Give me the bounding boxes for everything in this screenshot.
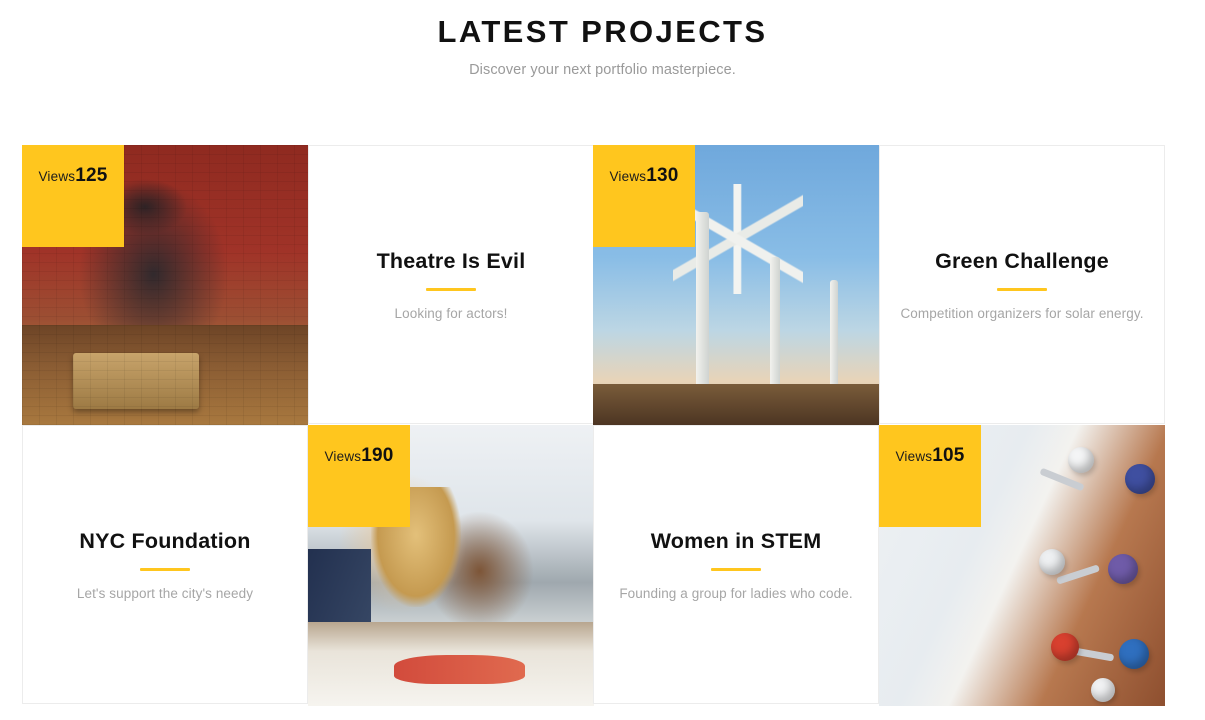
project-title: Women in STEM: [651, 527, 822, 555]
views-badge-theatre-is-evil: Views 125: [22, 145, 124, 247]
views-count: 105: [932, 448, 964, 464]
project-card-nyc-foundation[interactable]: NYC Foundation Let's support the city's …: [22, 425, 308, 704]
turbine-mast: [696, 212, 709, 386]
project-title: NYC Foundation: [79, 527, 250, 555]
project-image-nyc-foundation[interactable]: Views 190: [308, 425, 594, 706]
molecule-atom: [1068, 447, 1094, 473]
views-badge-green-challenge: Views 130: [593, 145, 695, 247]
project-card-women-in-stem[interactable]: Women in STEM Founding a group for ladie…: [593, 425, 879, 704]
project-subtitle: Looking for actors!: [395, 305, 508, 322]
latest-projects-page: LATEST PROJECTS Discover your next portf…: [0, 0, 1205, 720]
project-subtitle: Competition organizers for solar energy.: [900, 305, 1143, 322]
project-image-women-in-stem[interactable]: Views 105: [879, 425, 1165, 706]
molecule-atom: [1119, 639, 1149, 669]
project-title: Green Challenge: [935, 247, 1109, 275]
page-subtitle: Discover your next portfolio masterpiece…: [0, 62, 1205, 78]
views-label: Views: [324, 448, 361, 466]
views-badge-nyc-foundation: Views 190: [308, 425, 410, 527]
views-label: Views: [895, 448, 932, 466]
title-divider: [711, 568, 761, 571]
views-label: Views: [38, 168, 75, 186]
section-header: LATEST PROJECTS Discover your next portf…: [0, 0, 1205, 78]
views-count: 190: [361, 448, 393, 464]
suitcase-prop: [73, 353, 199, 409]
molecule-atom: [1125, 464, 1155, 494]
project-image-theatre-is-evil[interactable]: Views 125: [22, 145, 308, 426]
stage-floor: [22, 325, 308, 426]
horizon-ground: [593, 384, 879, 426]
title-divider: [140, 568, 190, 571]
molecule-atom: [1108, 554, 1138, 584]
project-title: Theatre Is Evil: [377, 247, 526, 275]
title-divider: [426, 288, 476, 291]
projects-grid: Views 125 Theatre Is Evil Looking for ac…: [22, 145, 1165, 706]
paint-tray: [394, 655, 526, 683]
views-count: 125: [75, 168, 107, 184]
views-badge-women-in-stem: Views 105: [879, 425, 981, 527]
molecule-atom: [1051, 633, 1079, 661]
page-title: LATEST PROJECTS: [0, 10, 1205, 54]
project-subtitle: Let's support the city's needy: [77, 585, 253, 602]
views-label: Views: [609, 168, 646, 186]
project-subtitle: Founding a group for ladies who code.: [619, 585, 852, 602]
project-card-green-challenge[interactable]: Green Challenge Competition organizers f…: [879, 145, 1165, 424]
project-card-theatre-is-evil[interactable]: Theatre Is Evil Looking for actors!: [308, 145, 594, 424]
project-image-green-challenge[interactable]: Views 130: [593, 145, 879, 426]
views-count: 130: [646, 168, 678, 184]
molecule-atom: [1091, 678, 1115, 702]
turbine-mast: [770, 257, 780, 386]
turbine-mast: [830, 280, 838, 387]
molecule-atom: [1039, 549, 1065, 575]
title-divider: [997, 288, 1047, 291]
